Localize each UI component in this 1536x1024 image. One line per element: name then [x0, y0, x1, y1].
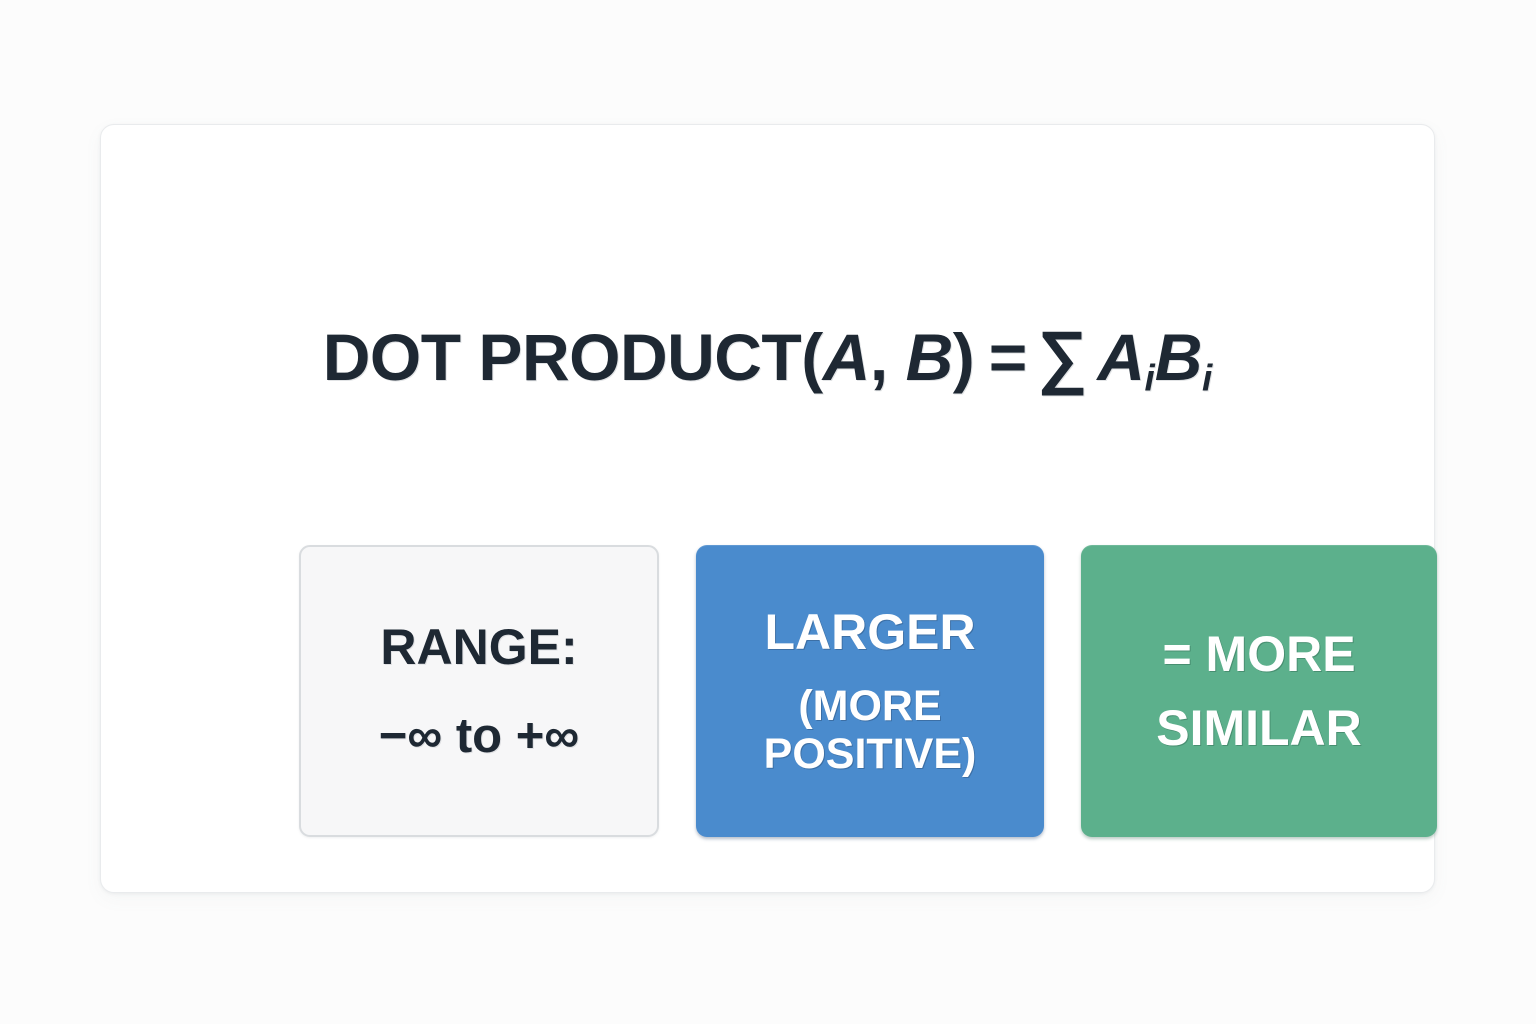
formula-term-b: B [1155, 320, 1202, 394]
card-larger-line3: POSITIVE) [764, 730, 977, 778]
formula-var-a: A [823, 320, 870, 394]
card-similar: = MORE SIMILAR [1081, 545, 1437, 837]
formula-term-a-subscript: i [1144, 357, 1154, 398]
card-range-line2: −∞ to +∞ [379, 709, 580, 764]
summation-sigma-icon: ∑ [1037, 317, 1086, 395]
formula-title: DOT PRODUCT(A, B)=∑AiBi [101, 321, 1434, 397]
formula-equals: = [989, 320, 1027, 394]
formula-close-paren: ) [953, 320, 974, 394]
card-similar-line1: = MORE [1162, 626, 1355, 682]
formula-var-b: B [906, 320, 953, 394]
content-panel: DOT PRODUCT(A, B)=∑AiBi RANGE: −∞ to +∞ … [100, 124, 1435, 893]
formula-term-b-subscript: i [1202, 357, 1212, 398]
card-larger-line1: LARGER [764, 604, 975, 660]
card-larger-line2: (MORE [798, 682, 941, 730]
card-range-line1: RANGE: [380, 619, 577, 675]
formula-term-a: A [1097, 320, 1144, 394]
card-range: RANGE: −∞ to +∞ [299, 545, 659, 837]
formula-comma: , [870, 320, 906, 394]
formula-lead: DOT PRODUCT( [323, 320, 823, 394]
card-row: RANGE: −∞ to +∞ LARGER (MORE POSITIVE) =… [299, 545, 1437, 837]
card-larger: LARGER (MORE POSITIVE) [696, 545, 1044, 837]
slide-canvas: DOT PRODUCT(A, B)=∑AiBi RANGE: −∞ to +∞ … [0, 0, 1536, 1024]
card-similar-line2: SIMILAR [1156, 700, 1362, 756]
